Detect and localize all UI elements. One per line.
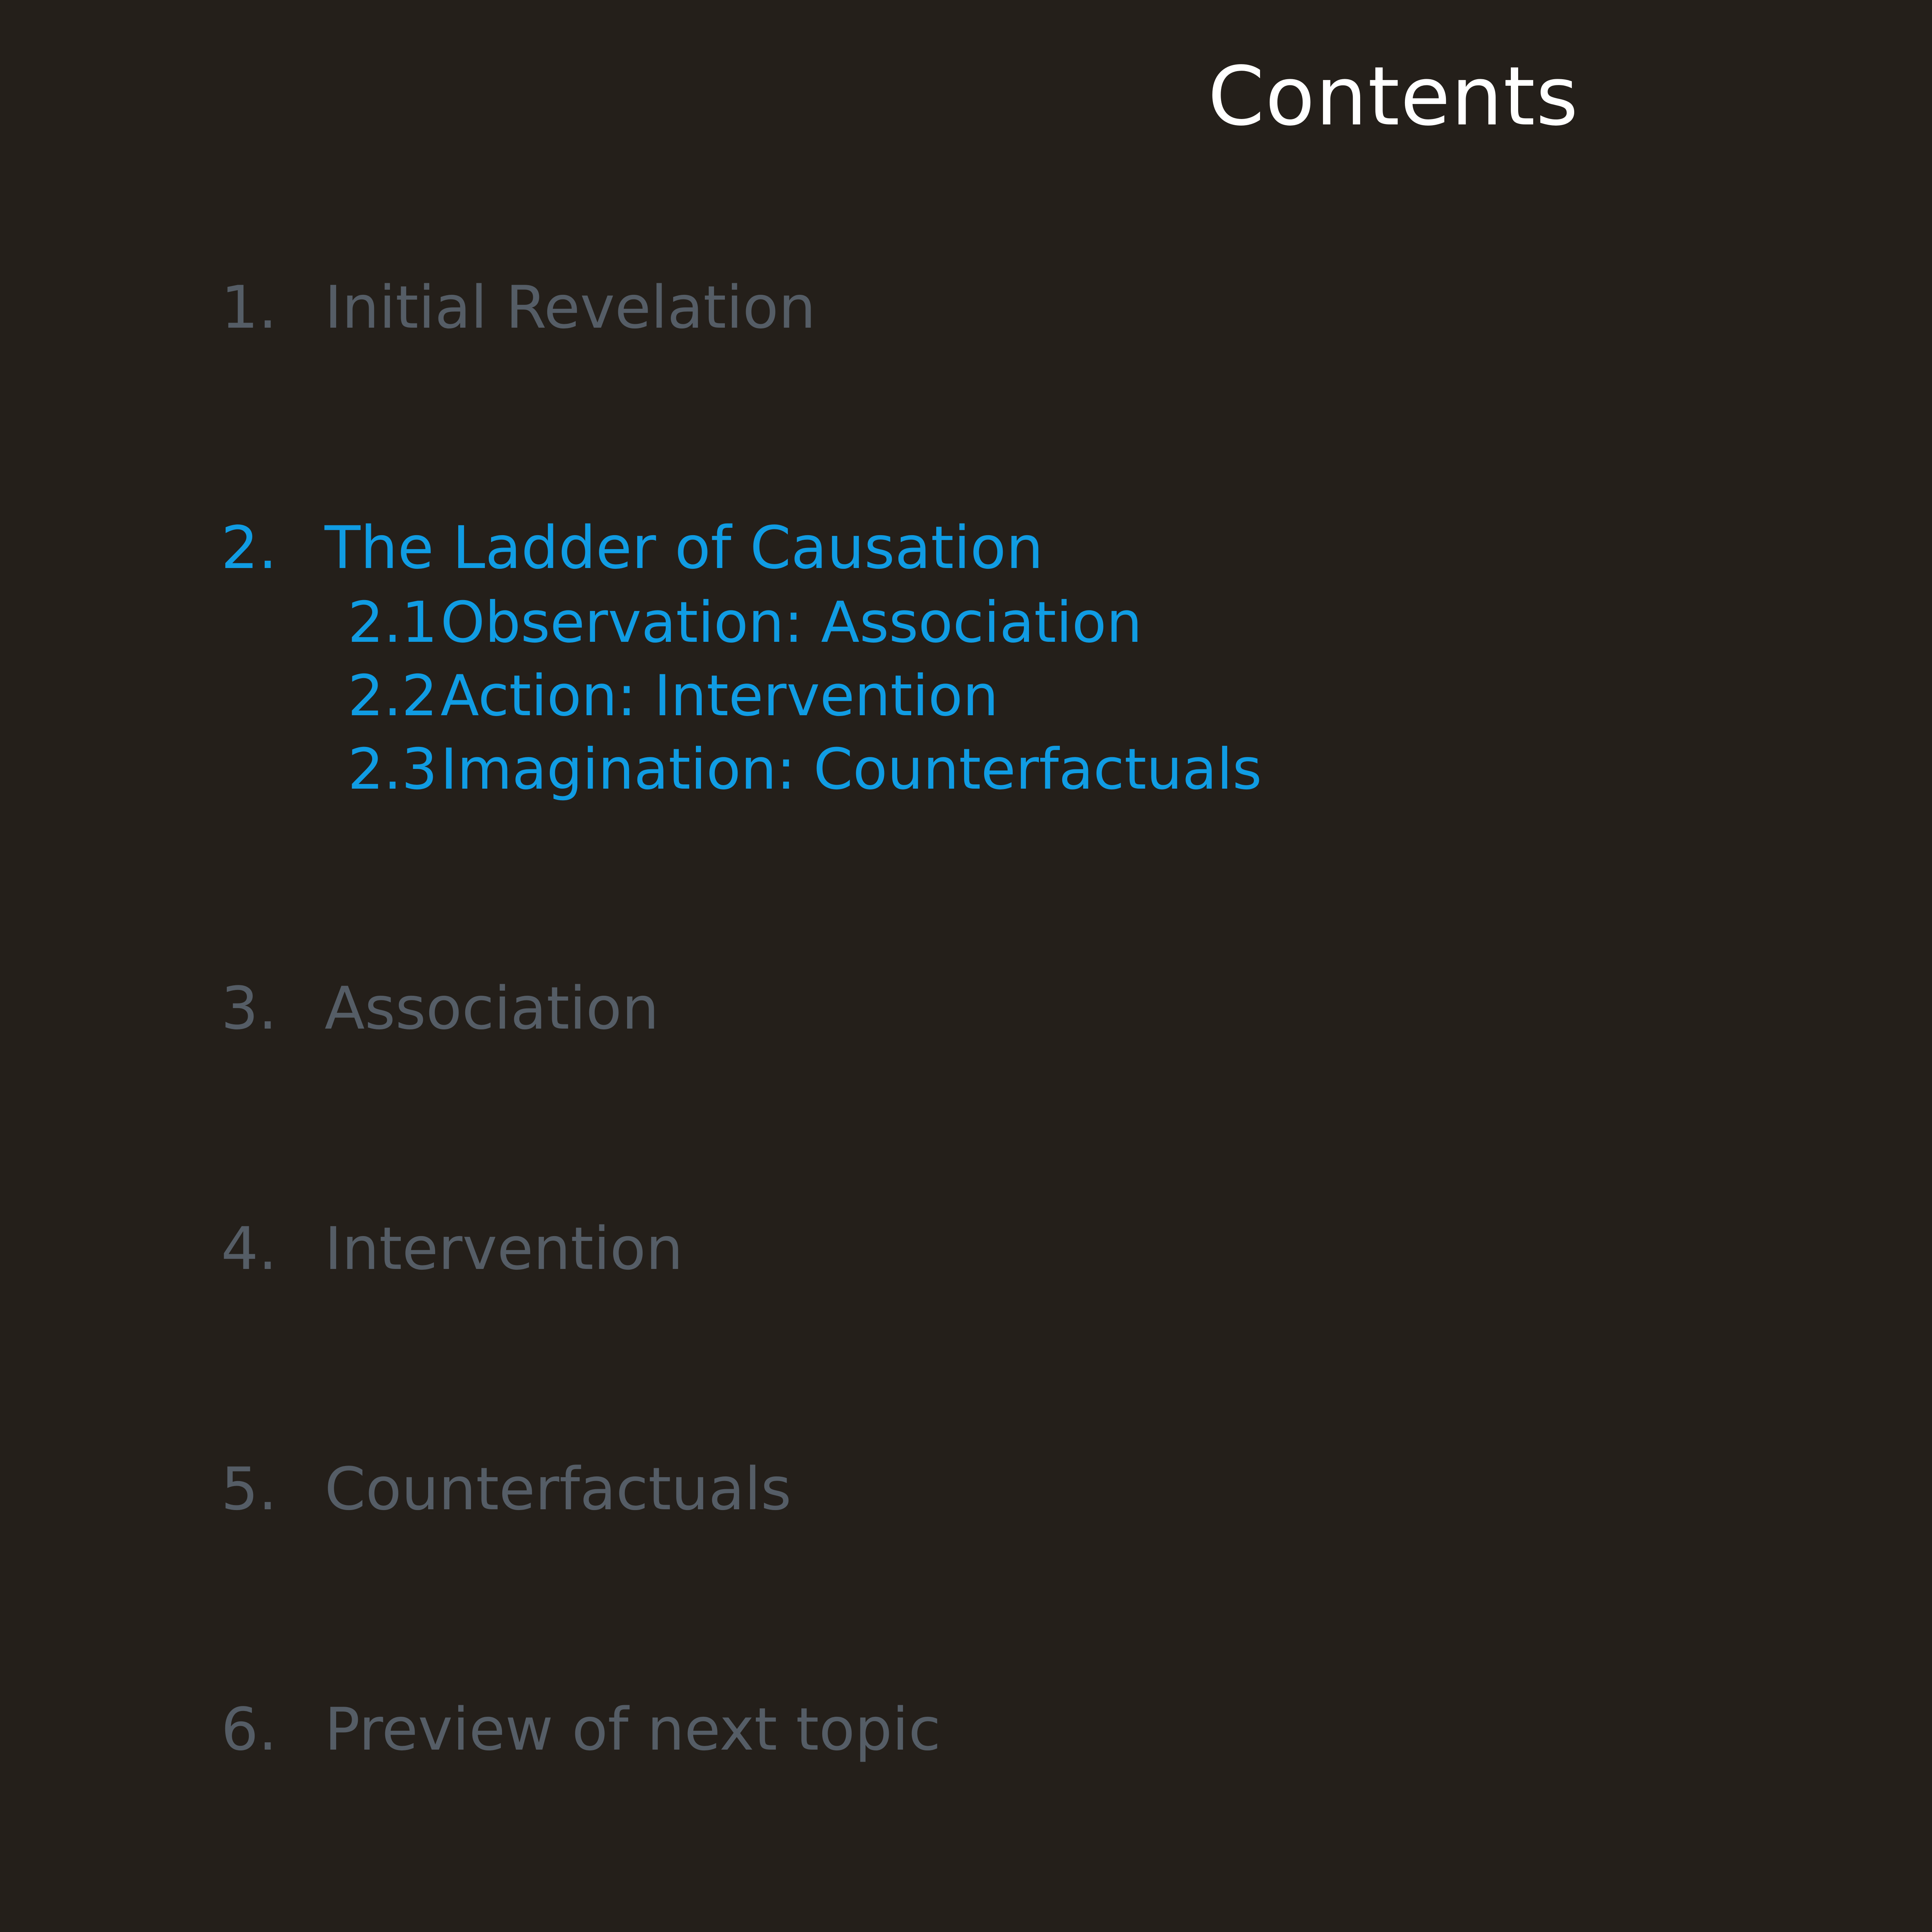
toc-section-6-label: Preview of next topic: [325, 1700, 941, 1759]
toc-section-2-number: 2.: [0, 519, 325, 577]
toc-section-1[interactable]: 1. Initial Revelation: [0, 278, 1932, 337]
beamer-slide: Contents: [0, 0, 1932, 1932]
toc-section-3-number: 3.: [0, 979, 325, 1038]
toc-subsection-2-1-number: 2.1: [0, 594, 440, 651]
toc-subsection-2-1-label: Observation: Association: [440, 594, 1142, 651]
toc-section-2[interactable]: 2. The Ladder of Causation: [0, 519, 1932, 577]
toc-subsection-2-1[interactable]: 2.1 Observation: Association: [0, 594, 1932, 651]
toc-section-4[interactable]: 4. Intervention: [0, 1219, 1932, 1278]
page-title: Contents: [0, 54, 1932, 139]
toc-subsection-2-2-label: Action: Intervention: [440, 668, 998, 724]
toc-section-5-number: 5.: [0, 1460, 325, 1519]
toc-section-6[interactable]: 6. Preview of next topic: [0, 1700, 1932, 1759]
toc-spacer: [0, 798, 1932, 979]
toc-section-1-number: 1.: [0, 278, 325, 337]
toc-section-6-number: 6.: [0, 1700, 325, 1759]
toc-spacer: [0, 337, 1932, 519]
toc-section-4-number: 4.: [0, 1219, 325, 1278]
toc-section-5-label: Counterfactuals: [325, 1460, 791, 1519]
toc-subsection-2-3-number: 2.3: [0, 741, 440, 798]
toc-section-3-label: Association: [325, 979, 659, 1038]
toc-spacer: [0, 1519, 1932, 1700]
toc-section-5[interactable]: 5. Counterfactuals: [0, 1460, 1932, 1519]
toc-spacer: [0, 1038, 1932, 1219]
toc-subsection-2-3[interactable]: 2.3 Imagination: Counterfactuals: [0, 741, 1932, 798]
table-of-contents: 1. Initial Revelation 2. The Ladder of C…: [0, 278, 1932, 1759]
toc-section-4-label: Intervention: [325, 1219, 683, 1278]
toc-section-3[interactable]: 3. Association: [0, 979, 1932, 1038]
toc-subsection-2-2[interactable]: 2.2 Action: Intervention: [0, 668, 1932, 724]
toc-subsection-2-2-number: 2.2: [0, 668, 440, 724]
toc-section-1-label: Initial Revelation: [325, 278, 816, 337]
toc-subsection-2-3-label: Imagination: Counterfactuals: [440, 741, 1262, 798]
toc-spacer: [0, 1278, 1932, 1460]
toc-section-2-label: The Ladder of Causation: [325, 519, 1043, 577]
